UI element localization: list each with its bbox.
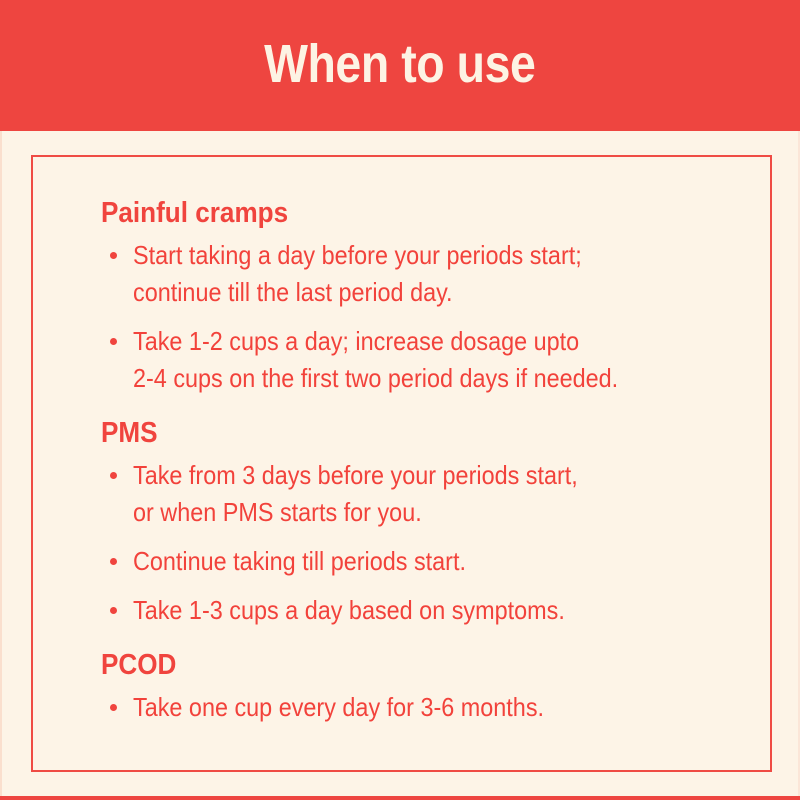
list-item-text: Continue taking till periods start. (133, 543, 680, 580)
header-banner: When to use (0, 0, 800, 131)
list-item-text: Take 1-2 cups a day; increase dosage upt… (133, 323, 680, 360)
list-item: Take one cup every day for 3-6 months. (101, 689, 741, 726)
section: PMSTake from 3 days before your periods … (101, 417, 741, 629)
list-item: Take from 3 days before your periods sta… (101, 457, 741, 531)
bullet-dot-icon (110, 338, 117, 345)
list-item-text: Take one cup every day for 3-6 months. (133, 689, 680, 726)
list-item-text: continue till the last period day. (133, 274, 680, 311)
left-edge-line (0, 131, 2, 800)
bullet-dot-icon (110, 472, 117, 479)
section-heading: PCOD (101, 649, 677, 681)
section: Painful crampsStart taking a day before … (101, 197, 741, 397)
sections-container: Painful crampsStart taking a day before … (101, 197, 741, 726)
infographic-card: When to use Painful crampsStart taking a… (0, 0, 800, 800)
section: PCODTake one cup every day for 3-6 month… (101, 649, 741, 726)
page-title: When to use (264, 37, 535, 95)
bullet-dot-icon (110, 252, 117, 259)
list-item: Take 1-2 cups a day; increase dosage upt… (101, 323, 741, 397)
bullet-list: Take one cup every day for 3-6 months. (101, 689, 741, 726)
list-item: Continue taking till periods start. (101, 543, 741, 580)
list-item-text: Start taking a day before your periods s… (133, 237, 680, 274)
list-item: Start taking a day before your periods s… (101, 237, 741, 311)
bullet-dot-icon (110, 704, 117, 711)
bullet-list: Start taking a day before your periods s… (101, 237, 741, 397)
section-heading: PMS (101, 417, 677, 449)
list-item-text: or when PMS starts for you. (133, 494, 680, 531)
bottom-accent-bar (0, 796, 800, 800)
section-heading: Painful cramps (101, 197, 677, 229)
bullet-list: Take from 3 days before your periods sta… (101, 457, 741, 629)
list-item: Take 1-3 cups a day based on symptoms. (101, 592, 741, 629)
bullet-dot-icon (110, 558, 117, 565)
list-item-text: Take from 3 days before your periods sta… (133, 457, 680, 494)
list-item-text: 2-4 cups on the first two period days if… (133, 360, 680, 397)
bullet-dot-icon (110, 607, 117, 614)
content-frame: Painful crampsStart taking a day before … (31, 155, 772, 772)
list-item-text: Take 1-3 cups a day based on symptoms. (133, 592, 680, 629)
